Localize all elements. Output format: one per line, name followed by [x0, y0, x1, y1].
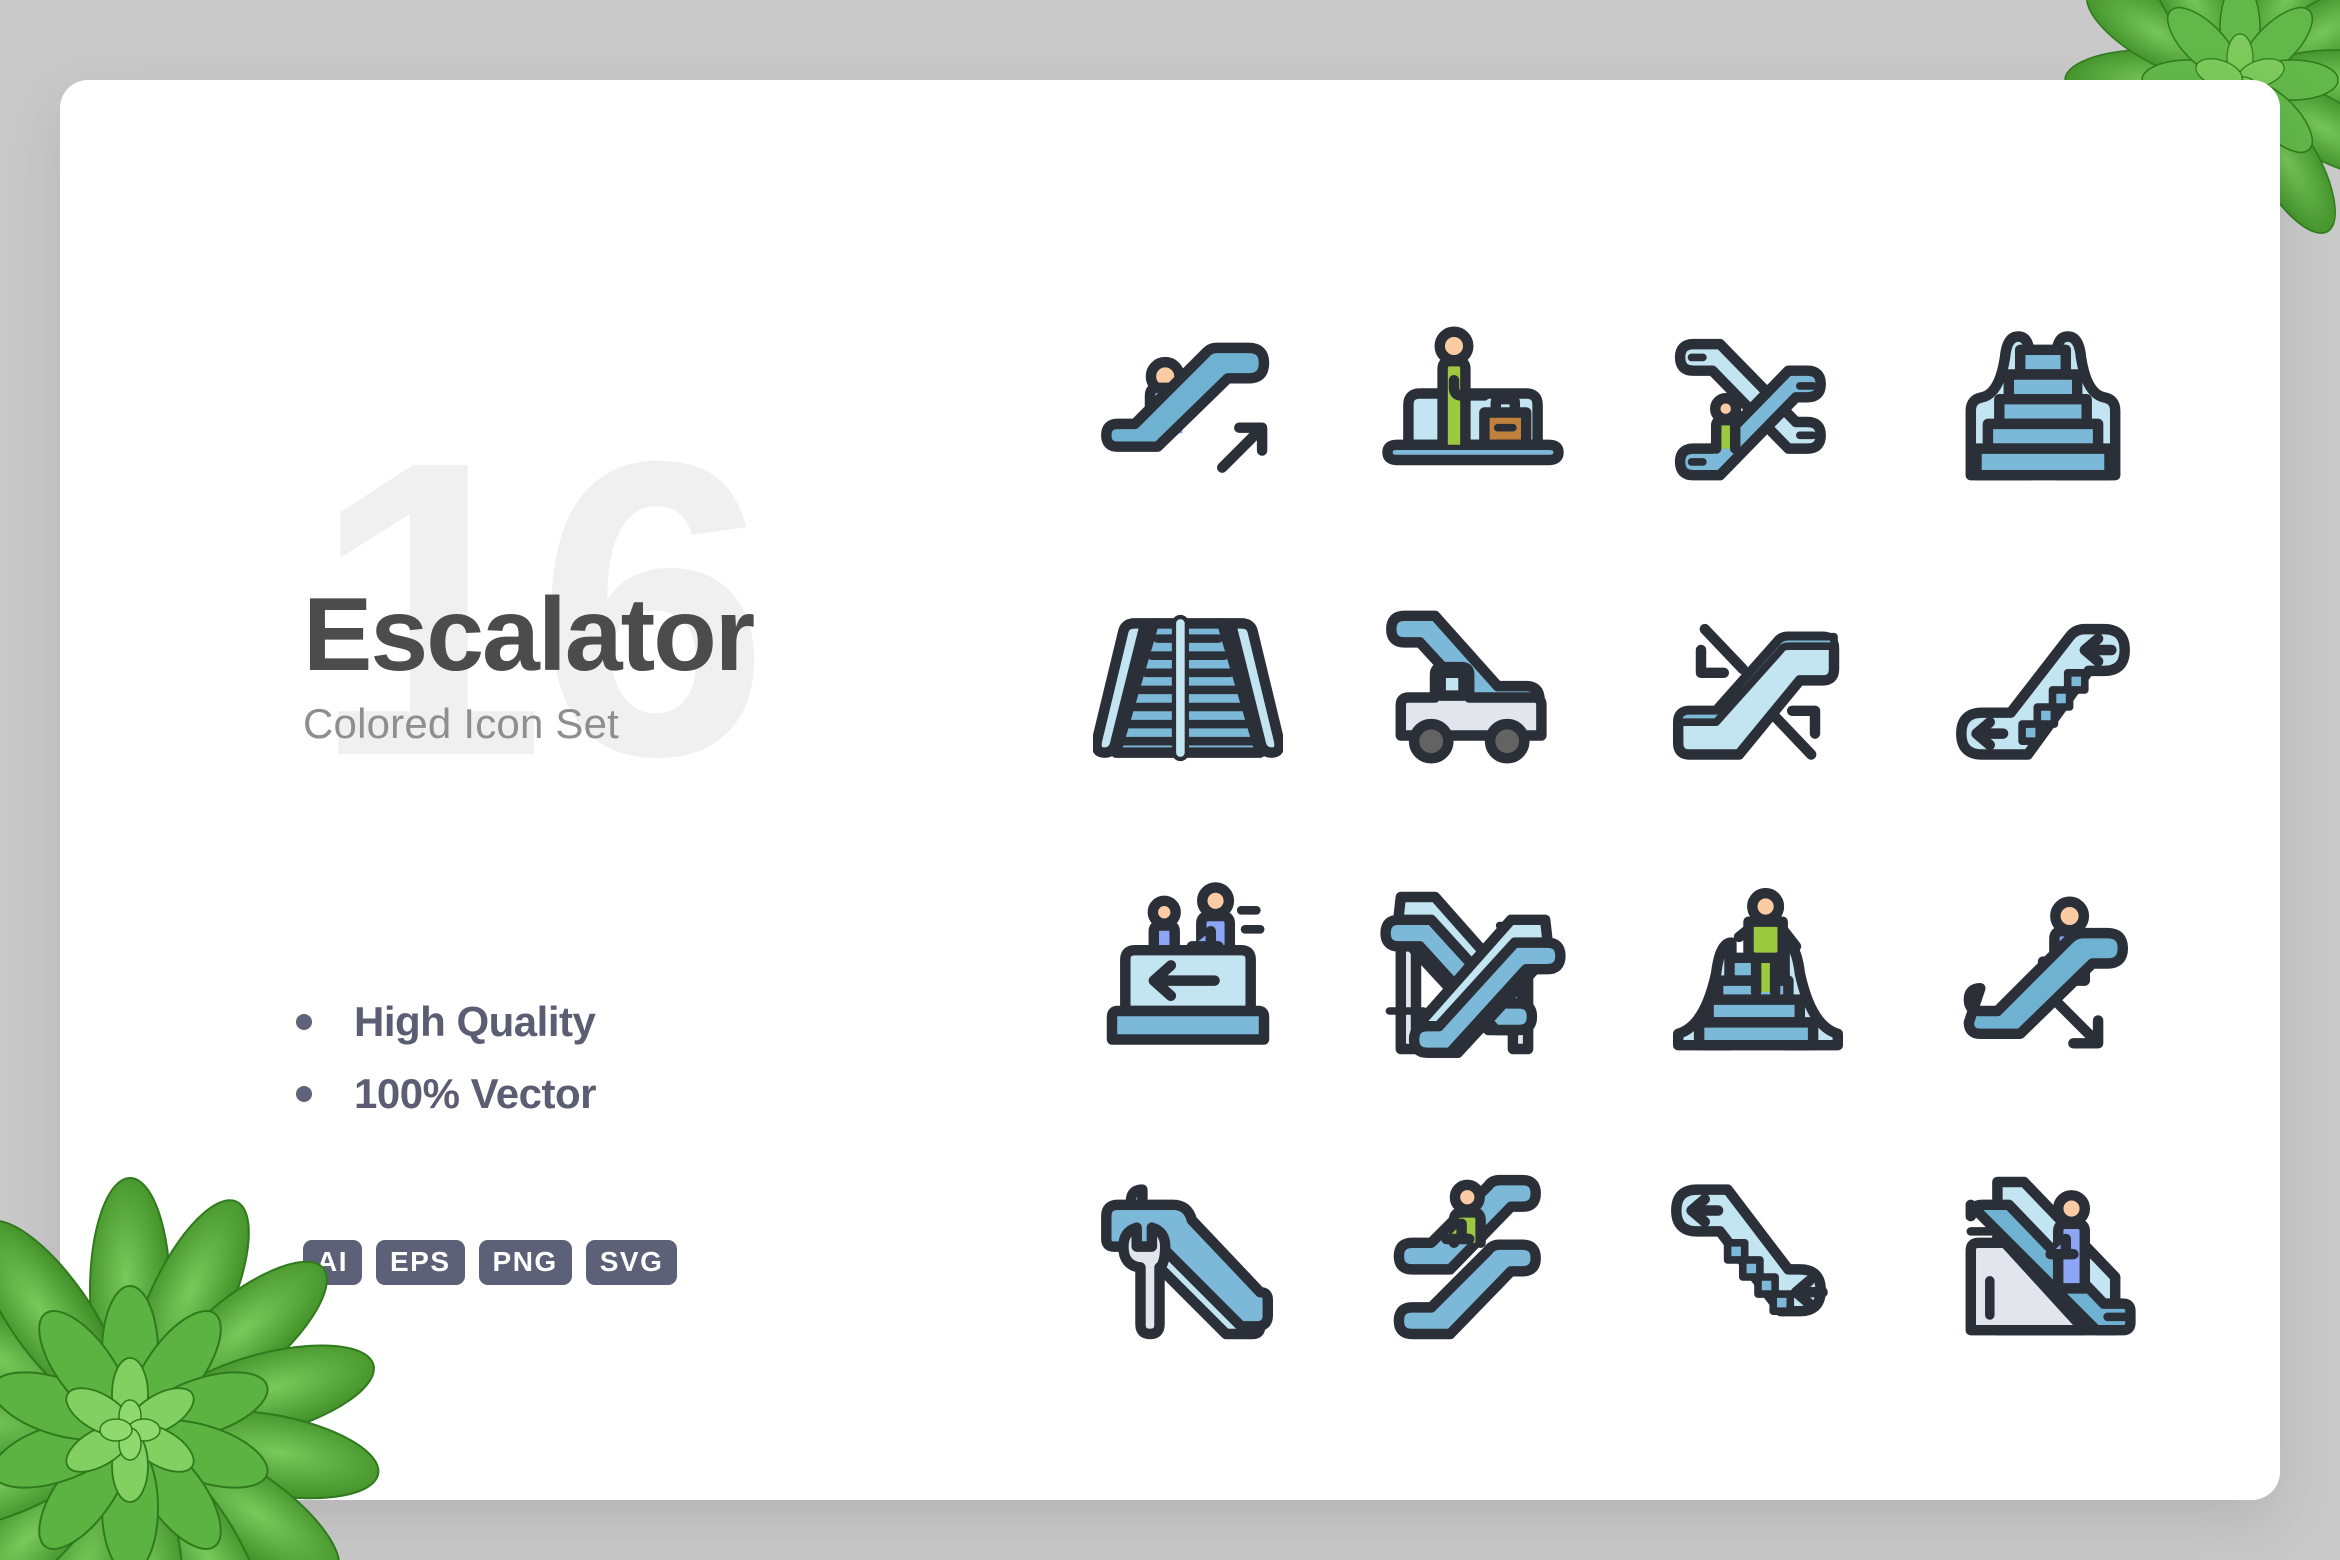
escalator-parallel-person-icon: [1378, 1163, 1568, 1353]
icon-cell: [1045, 260, 1330, 545]
icon-cell: [1900, 260, 2185, 545]
icon-cell: [1615, 1115, 1900, 1400]
crossed-escalators-supports-icon: [1378, 878, 1568, 1068]
feature-list: High Quality 100% Vector: [296, 998, 596, 1142]
moving-walkway-person-briefcase-icon: [1378, 308, 1568, 498]
escalator-mirrored-left-arrows-icon: [1663, 1163, 1853, 1353]
escalator-steps-left-arrows-icon: [1948, 593, 2138, 783]
poster-canvas: 16 Escalator Colored Icon Set High Quali…: [0, 0, 2340, 1560]
icon-cell: [1900, 1115, 2185, 1400]
feature-label: 100% Vector: [354, 1070, 596, 1118]
list-item: High Quality: [296, 998, 596, 1046]
left-info-panel: 16 Escalator Colored Icon Set High Quali…: [60, 80, 1040, 1500]
crossed-escalators-person-icon: [1663, 308, 1853, 498]
icon-cell: [1045, 830, 1330, 1115]
bullet-icon: [296, 1086, 312, 1102]
escalator-perspective-double-icon: [1093, 593, 1283, 783]
format-badge-eps: EPS: [376, 1240, 465, 1285]
format-badge-group: AI EPS PNG SVG: [303, 1240, 677, 1285]
poster-card: 16 Escalator Colored Icon Set High Quali…: [60, 80, 2280, 1500]
bullet-icon: [296, 1014, 312, 1030]
escalator-two-way-arrows-icon: [1663, 593, 1853, 783]
icon-cell: [1900, 830, 2185, 1115]
escalator-maintenance-wrench-icon: [1093, 1163, 1283, 1353]
escalator-side-panel-person-icon: [1948, 1163, 2138, 1353]
list-item: 100% Vector: [296, 1070, 596, 1118]
icon-grid: [1045, 260, 2185, 1400]
airport-stairs-truck-icon: [1378, 593, 1568, 783]
icon-cell: [1615, 545, 1900, 830]
icon-cell: [1615, 830, 1900, 1115]
escalator-up-person-arrow-icon: [1093, 308, 1283, 498]
feature-label: High Quality: [354, 998, 595, 1046]
page-title: Escalator: [303, 580, 753, 690]
icon-cell: [1045, 1115, 1330, 1400]
page-subtitle: Colored Icon Set: [303, 700, 753, 748]
moving-walkway-two-people-arrow-icon: [1093, 878, 1283, 1068]
icon-cell: [1045, 545, 1330, 830]
icon-cell: [1330, 545, 1615, 830]
format-badge-png: PNG: [479, 1240, 572, 1285]
icon-cell: [1330, 260, 1615, 545]
icon-cell: [1900, 545, 2185, 830]
format-badge-svg: SVG: [586, 1240, 678, 1285]
escalator-front-person-icon: [1663, 878, 1853, 1068]
icon-cell: [1330, 1115, 1615, 1400]
escalator-front-steps-icon: [1948, 308, 2138, 498]
icon-cell: [1615, 260, 1900, 545]
title-block: Escalator Colored Icon Set: [303, 580, 753, 748]
icon-cell: [1330, 830, 1615, 1115]
escalator-down-person-arrow-icon: [1948, 878, 2138, 1068]
format-badge-ai: AI: [303, 1240, 362, 1285]
